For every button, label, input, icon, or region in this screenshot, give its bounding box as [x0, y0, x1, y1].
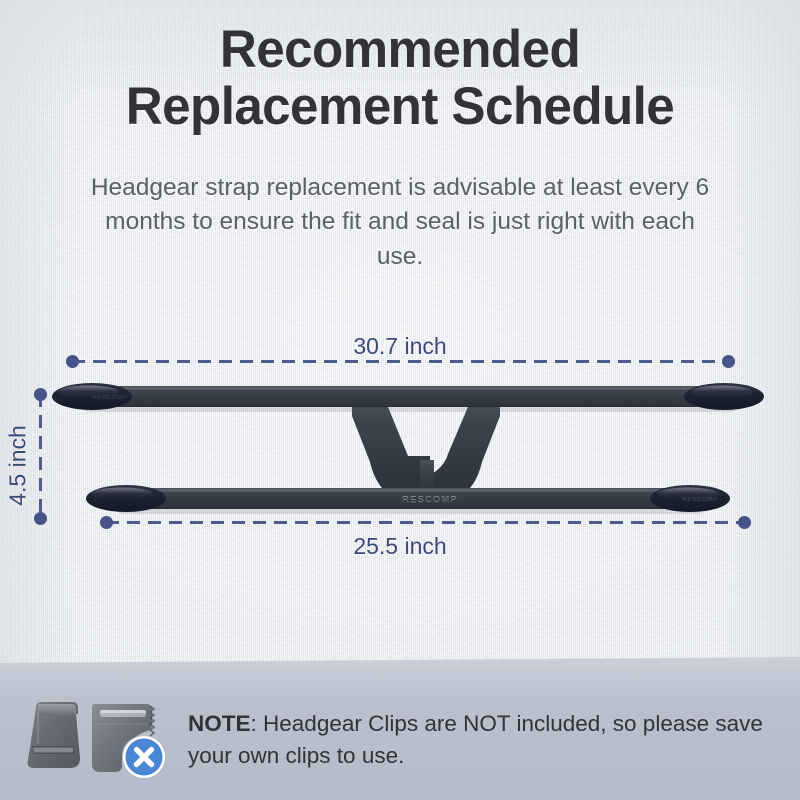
- svg-text:RESCOMP: RESCOMP: [682, 497, 717, 503]
- footer-note-body: Headgear Clips are NOT included, so plea…: [188, 711, 763, 768]
- svg-text:RESCOMP: RESCOMP: [92, 395, 127, 401]
- page-title-line-2: Replacement Schedule: [72, 79, 728, 136]
- footer-note-prefix: NOTE: [188, 711, 251, 736]
- page-title-line-1: Recommended: [72, 22, 728, 79]
- footer-note-separator: :: [251, 711, 264, 736]
- svg-text:RESCOMP: RESCOMP: [402, 496, 458, 507]
- page-subtitle: Headgear strap replacement is advisable …: [80, 171, 720, 274]
- footer-note: NOTE: Headgear Clips are NOT included, s…: [188, 708, 788, 772]
- headgear-clips-icon: [22, 684, 174, 780]
- product-illustration: RESCOMP RESCOMP RESCOMP RESCOMP: [0, 330, 800, 550]
- page-title: Recommended Replacement Schedule: [72, 22, 728, 135]
- infographic-canvas: Recommended Replacement Schedule Headgea…: [0, 0, 800, 800]
